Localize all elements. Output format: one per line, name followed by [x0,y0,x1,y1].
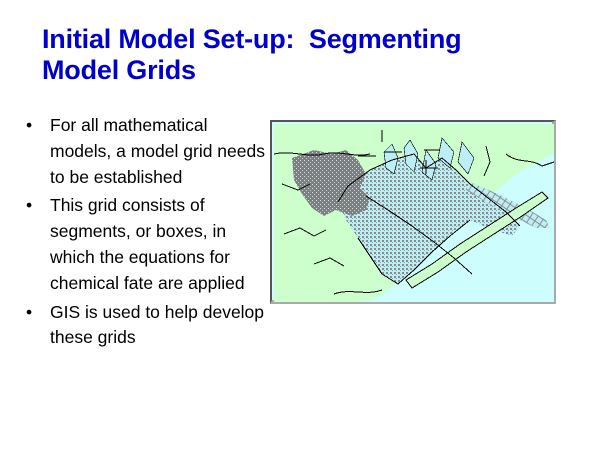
bullet-marker-icon: • [26,113,40,139]
bullet-item-1: • For all mathematical models, a model g… [18,113,266,190]
bullet-text-2: This grid consists of segments, or boxes… [50,193,266,296]
bullet-marker-icon: • [26,300,40,326]
bullet-text-3: GIS is used to help develop these grids [50,300,266,352]
slide-title: Initial Model Set-up: Segmenting Model G… [42,24,562,86]
map-image [274,124,554,302]
bullet-list: • For all mathematical models, a model g… [18,113,266,354]
model-grid-map-figure [270,120,556,304]
bullet-item-2: • This grid consists of segments, or box… [18,193,266,296]
slide-canvas: Initial Model Set-up: Segmenting Model G… [0,0,600,450]
bullet-text-1: For all mathematical models, a model gri… [50,113,266,190]
bullet-marker-icon: • [26,193,40,219]
bullet-item-3: • GIS is used to help develop these grid… [18,300,266,352]
title-line-2: Model Grids [42,55,562,86]
title-line-1: Initial Model Set-up: Segmenting [42,24,562,55]
map-frame-border [270,120,556,304]
